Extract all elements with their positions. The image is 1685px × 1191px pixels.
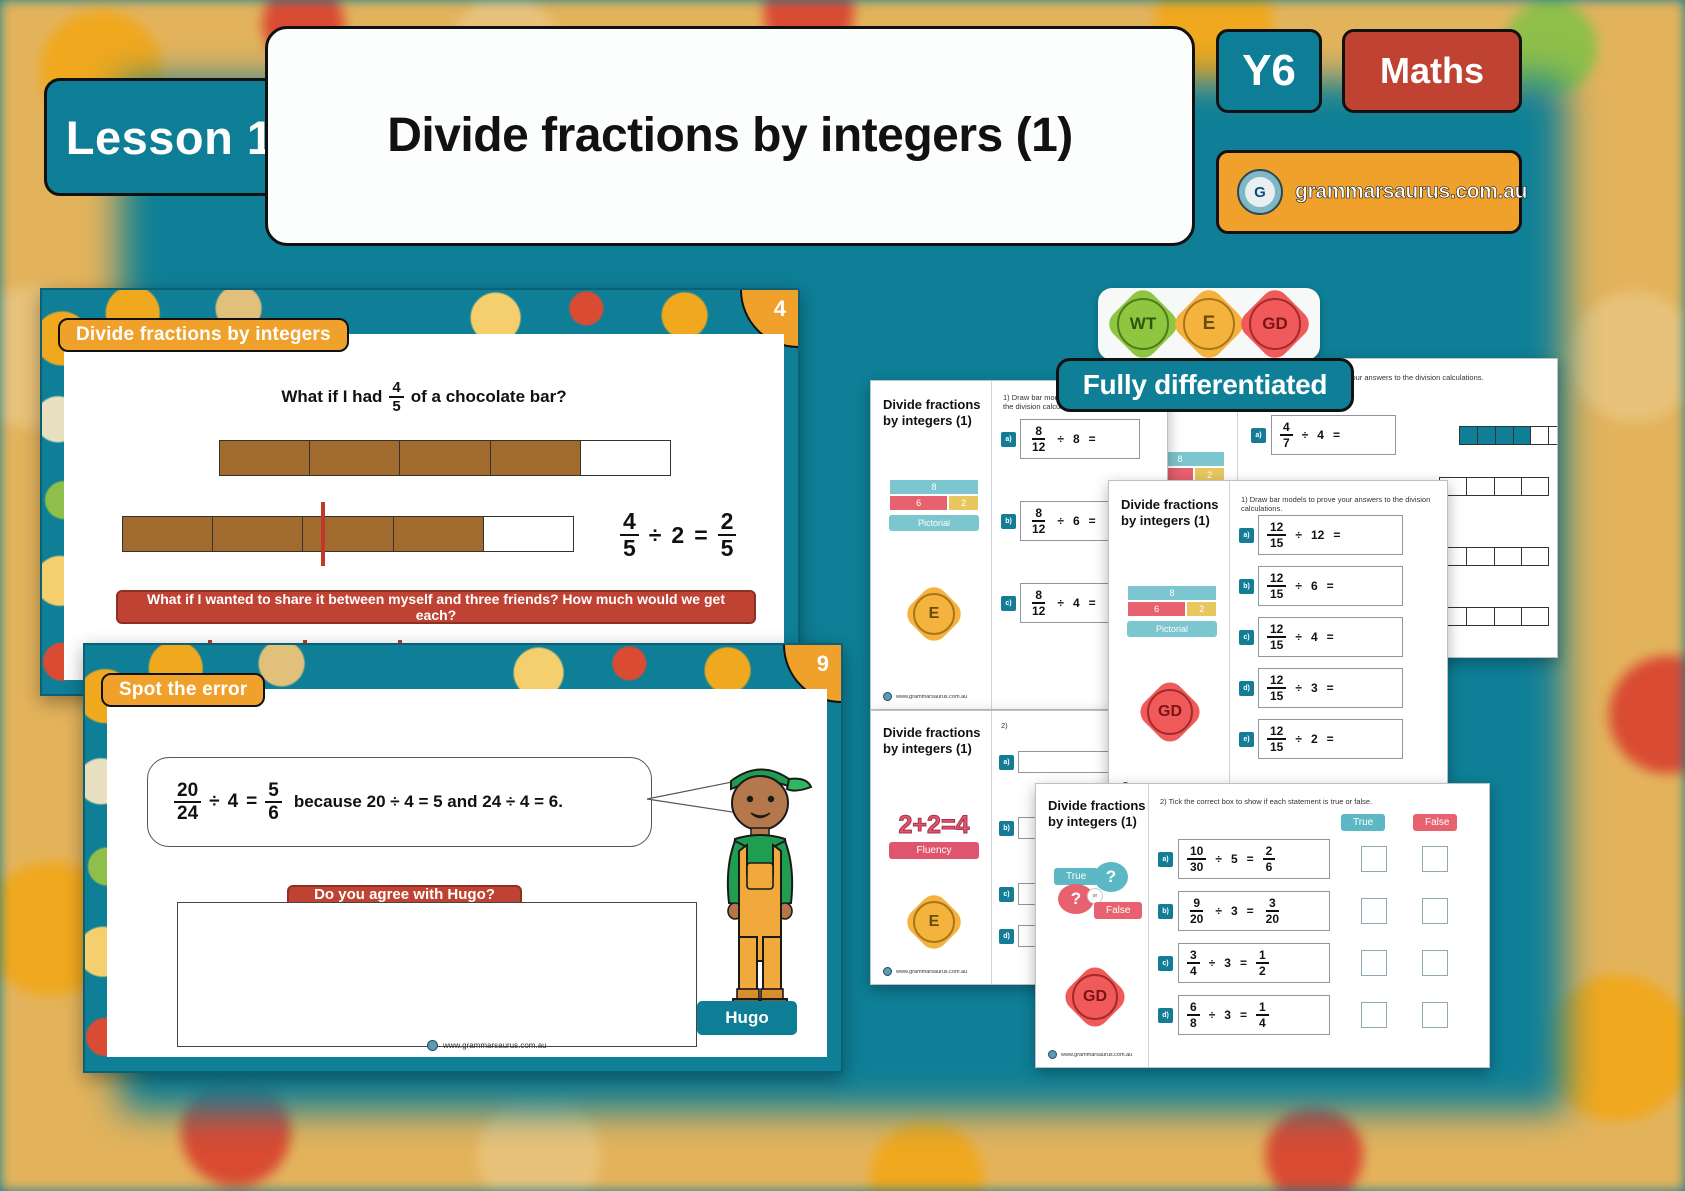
divide-symbol: ÷ bbox=[1057, 596, 1064, 610]
worksheet-footer: www.grammarsaurus.com.au bbox=[883, 692, 967, 701]
equals-symbol: = bbox=[1327, 579, 1334, 593]
item-tag: c) bbox=[1001, 596, 1016, 611]
bar-cell bbox=[1460, 427, 1478, 444]
item-divisor: 8 bbox=[1073, 432, 1080, 446]
true-column-header: True bbox=[1341, 814, 1385, 831]
item-divisor: 2 bbox=[1311, 732, 1318, 746]
equation-1: 4 5 ÷ 2 = 2 5 bbox=[620, 510, 736, 560]
item-fraction: 8 12 bbox=[1029, 425, 1048, 453]
hugo-character-illustration bbox=[705, 751, 815, 1041]
calc-row: a) 8 12 ÷ 8 = bbox=[1001, 419, 1161, 459]
false-checkbox[interactable] bbox=[1422, 1002, 1448, 1028]
gd-badge-icon: GD bbox=[1147, 689, 1193, 735]
answer-writing-box[interactable] bbox=[177, 902, 697, 1047]
true-checkbox[interactable] bbox=[1361, 1002, 1387, 1028]
equation-1-divisor: 2 bbox=[671, 522, 684, 549]
bar-cell bbox=[394, 517, 484, 551]
item-tag: a) bbox=[1251, 428, 1266, 443]
divide-symbol: ÷ bbox=[1295, 528, 1302, 542]
true-checkbox[interactable] bbox=[1361, 846, 1387, 872]
divide-symbol: ÷ bbox=[1295, 579, 1302, 593]
equals-symbol: = bbox=[1327, 681, 1334, 695]
bar-cell bbox=[1522, 478, 1548, 495]
calculation-box[interactable]: 12 15 ÷ 12 = bbox=[1258, 515, 1403, 555]
item-fraction: 6 8 bbox=[1187, 1001, 1200, 1029]
brand-badge[interactable]: G grammarsaurus.com.au bbox=[1216, 150, 1522, 234]
truefalse-list: a) 10 30 ÷ 5 = 2 6 b) 9 bbox=[1158, 839, 1448, 1035]
bar-cell bbox=[491, 441, 581, 475]
item-divisor: 4 bbox=[1073, 596, 1080, 610]
item-divisor: 12 bbox=[1311, 528, 1324, 542]
calc-row: e) 12 15 ÷ 2 = bbox=[1239, 719, 1403, 759]
bar-cell bbox=[1522, 608, 1548, 625]
bar-cell bbox=[1495, 478, 1522, 495]
item-divisor: 4 bbox=[1317, 428, 1324, 442]
worksheet-column-divider bbox=[991, 381, 992, 709]
item-tag: b) bbox=[1001, 514, 1016, 529]
divide-symbol: ÷ bbox=[1295, 732, 1302, 746]
bar-model-2 bbox=[122, 516, 574, 552]
mini-bar-left: 6 bbox=[1127, 601, 1186, 617]
slide-teaching[interactable]: 4 Divide fractions by integers What if I… bbox=[40, 288, 800, 696]
bar-cell bbox=[213, 517, 303, 551]
divide-symbol: ÷ bbox=[1215, 904, 1222, 918]
item-tag: c) bbox=[1158, 956, 1173, 971]
bar-cell bbox=[484, 517, 573, 551]
page-title: Divide fractions by integers (1) bbox=[387, 110, 1073, 163]
bar-cell bbox=[1496, 427, 1514, 444]
slide-footer: www.grammarsaurus.com.au bbox=[427, 1040, 547, 1051]
item-fraction: 9 20 bbox=[1187, 897, 1206, 925]
bar-cell bbox=[1478, 427, 1496, 444]
calculation-box[interactable]: 12 15 ÷ 4 = bbox=[1258, 617, 1403, 657]
grammarsaurus-logo-icon bbox=[883, 967, 892, 976]
divide-symbol: ÷ bbox=[1057, 514, 1064, 528]
item-fraction: 12 15 bbox=[1267, 572, 1286, 600]
item-fraction: 8 12 bbox=[1029, 589, 1048, 617]
slide-section-title: Divide fractions by integers bbox=[58, 318, 349, 352]
pictorial-mini-bar: 8 6 2 Pictorial bbox=[1127, 585, 1217, 637]
grammarsaurus-logo-icon bbox=[1048, 1050, 1057, 1059]
answer-bar-model[interactable] bbox=[1459, 426, 1558, 445]
equals-symbol: = bbox=[694, 522, 707, 549]
item-fraction: 4 7 bbox=[1280, 421, 1293, 449]
bar-cell bbox=[1495, 548, 1522, 565]
item-tag: b) bbox=[999, 821, 1014, 836]
fluency-graphic: 2+2=4 Fluency bbox=[889, 811, 979, 859]
true-checkbox[interactable] bbox=[1361, 950, 1387, 976]
bar-cell bbox=[581, 441, 670, 475]
prompt-fraction: 4 5 bbox=[389, 380, 403, 414]
hugo-svg bbox=[705, 751, 815, 1041]
equation-1-result: 2 5 bbox=[718, 510, 737, 560]
error-statement: 20 24 ÷ 4 = 5 6 because 20 ÷ 4 = 5 and 2… bbox=[174, 781, 563, 823]
grammarsaurus-logo-icon bbox=[883, 692, 892, 701]
fluency-sum-label: 2+2=4 bbox=[889, 811, 979, 840]
item-tag: b) bbox=[1239, 579, 1254, 594]
equals-symbol: = bbox=[1089, 514, 1096, 528]
wt-badge-icon: WT bbox=[1117, 298, 1169, 350]
item-tag: d) bbox=[1158, 1008, 1173, 1023]
teaching-red-banner: What if I wanted to share it between mys… bbox=[116, 590, 756, 624]
calc-row: a) 4 7 ÷ 4 = bbox=[1251, 415, 1558, 455]
bar-model-2-group bbox=[122, 516, 574, 552]
equals-symbol: = bbox=[1247, 904, 1254, 918]
item-tag: c) bbox=[999, 887, 1014, 902]
equals-symbol: = bbox=[1089, 432, 1096, 446]
worksheet-gd-pictorial[interactable]: Divide fractions by integers (1) 8 6 2 P… bbox=[1108, 480, 1448, 800]
worksheet-question-2: 2) bbox=[1001, 721, 1008, 730]
gd-badge-icon: GD bbox=[1249, 298, 1301, 350]
false-checkbox[interactable] bbox=[1422, 898, 1448, 924]
equals-symbol: = bbox=[1333, 428, 1340, 442]
worksheet-column-divider bbox=[991, 711, 992, 984]
equation-1-fraction: 4 5 bbox=[620, 510, 639, 560]
worksheet-title: Divide fractions by integers (1) bbox=[1048, 798, 1146, 831]
true-chip-icon: True bbox=[1054, 868, 1098, 885]
brand-url-label: grammarsaurus.com.au bbox=[1295, 180, 1527, 204]
mini-bar-bottom: 6 2 bbox=[889, 495, 979, 511]
prompt-after: of a chocolate bar? bbox=[411, 387, 567, 407]
statement-box: 9 20 ÷ 3 = 3 20 bbox=[1178, 891, 1330, 931]
item-tag: d) bbox=[999, 929, 1014, 944]
worksheet-footer: www.grammarsaurus.com.au bbox=[883, 967, 967, 976]
worksheet-footer: www.grammarsaurus.com.au bbox=[1048, 1050, 1132, 1059]
equals-symbol: = bbox=[1247, 852, 1254, 866]
false-chip-icon: False bbox=[1094, 902, 1142, 919]
equals-symbol: = bbox=[1333, 528, 1340, 542]
equals-symbol: = bbox=[1327, 732, 1334, 746]
false-checkbox[interactable] bbox=[1422, 846, 1448, 872]
bar-cell bbox=[400, 441, 490, 475]
item-result: 3 20 bbox=[1263, 897, 1282, 925]
gd-badge-icon: GD bbox=[1072, 974, 1118, 1020]
item-fraction: 10 30 bbox=[1187, 845, 1206, 873]
grammarsaurus-logo-icon: G bbox=[1237, 169, 1283, 215]
slide-section-title: Spot the error bbox=[101, 673, 265, 707]
item-fraction: 12 15 bbox=[1267, 725, 1286, 753]
mini-bar-top: 8 bbox=[889, 479, 979, 495]
pictorial-label: Pictorial bbox=[1127, 621, 1217, 637]
prompt-before: What if I had bbox=[281, 387, 382, 407]
divide-symbol: ÷ bbox=[1295, 681, 1302, 695]
table-row: d) 6 8 ÷ 3 = 1 4 bbox=[1158, 995, 1448, 1035]
error-fraction-2: 5 6 bbox=[265, 781, 282, 823]
item-fraction: 8 12 bbox=[1029, 507, 1048, 535]
calc-row: c) 12 15 ÷ 4 = bbox=[1239, 617, 1403, 657]
equals-symbol: = bbox=[246, 791, 257, 813]
slide-content: Spot the error 20 24 ÷ 4 = 5 6 because 2… bbox=[107, 689, 827, 1057]
bar-cell bbox=[1522, 548, 1548, 565]
differentiation-badges-card: WT E GD bbox=[1098, 288, 1320, 360]
truefalse-header: True False bbox=[1341, 814, 1457, 831]
grammarsaurus-logo-icon bbox=[427, 1040, 438, 1051]
item-fraction: 3 4 bbox=[1187, 949, 1200, 977]
statement-box: 6 8 ÷ 3 = 1 4 bbox=[1178, 995, 1330, 1035]
divide-symbol: ÷ bbox=[1209, 956, 1216, 970]
year-badge: Y6 bbox=[1216, 29, 1322, 113]
pictorial-mini-bar: 8 6 2 Pictorial bbox=[889, 479, 979, 531]
slide-content: Divide fractions by integers What if I h… bbox=[64, 334, 784, 680]
divide-symbol: ÷ bbox=[1302, 428, 1309, 442]
item-divisor: 6 bbox=[1311, 579, 1318, 593]
answer-bar-model-empty[interactable] bbox=[1439, 477, 1549, 496]
item-divisor: 6 bbox=[1073, 514, 1080, 528]
worksheet-title: Divide fractions by integers (1) bbox=[883, 397, 981, 430]
item-divisor: 4 bbox=[1311, 630, 1318, 644]
table-row: a) 10 30 ÷ 5 = 2 6 bbox=[1158, 839, 1448, 879]
calc-row: b) 12 15 ÷ 6 = bbox=[1239, 566, 1403, 606]
bar-cell bbox=[1495, 608, 1522, 625]
mini-bar-right: 2 bbox=[948, 495, 979, 511]
logo-letter: G bbox=[1245, 177, 1275, 207]
table-row: b) 9 20 ÷ 3 = 3 20 bbox=[1158, 891, 1448, 931]
bar-cell bbox=[1514, 427, 1532, 444]
worksheet-column-divider bbox=[1229, 481, 1230, 799]
fully-differentiated-banner: Fully differentiated bbox=[1056, 358, 1354, 412]
e-badge-icon: E bbox=[913, 901, 955, 943]
item-result: 2 6 bbox=[1263, 845, 1276, 873]
divide-symbol: ÷ bbox=[209, 791, 219, 813]
item-divisor: 3 bbox=[1311, 681, 1318, 695]
bar-cell bbox=[1467, 478, 1494, 495]
calc-row: a) 12 15 ÷ 12 = bbox=[1239, 515, 1403, 555]
statement-box: 10 30 ÷ 5 = 2 6 bbox=[1178, 839, 1330, 879]
mini-bar-left: 6 bbox=[889, 495, 948, 511]
item-result: 1 4 bbox=[1256, 1001, 1269, 1029]
item-tag: d) bbox=[1239, 681, 1254, 696]
item-tag: e) bbox=[1239, 732, 1254, 747]
mini-bar-right: 2 bbox=[1186, 601, 1217, 617]
hugo-speech-bubble: 20 24 ÷ 4 = 5 6 because 20 ÷ 4 = 5 and 2… bbox=[147, 757, 652, 847]
cut-line bbox=[321, 502, 325, 566]
calculation-box[interactable]: 8 12 ÷ 8 = bbox=[1020, 419, 1140, 459]
item-result: 1 2 bbox=[1256, 949, 1269, 977]
error-reason: because 20 ÷ 4 = 5 and 24 ÷ 4 = 6. bbox=[294, 792, 563, 812]
item-tag: a) bbox=[999, 755, 1014, 770]
answer-bar-model-empty[interactable] bbox=[1439, 607, 1549, 626]
item-tag: c) bbox=[1239, 630, 1254, 645]
item-divisor: 3 bbox=[1224, 956, 1231, 970]
item-divisor: 3 bbox=[1231, 904, 1238, 918]
page-title-card: Divide fractions by integers (1) bbox=[265, 26, 1195, 246]
divide-symbol: ÷ bbox=[1209, 1008, 1216, 1022]
calculation-box[interactable]: 12 15 ÷ 2 = bbox=[1258, 719, 1403, 759]
item-tag: a) bbox=[1239, 528, 1254, 543]
bar-model-1 bbox=[219, 440, 671, 476]
statement-box: 3 4 ÷ 3 = 1 2 bbox=[1178, 943, 1330, 983]
error-fraction-1: 20 24 bbox=[174, 781, 201, 823]
worksheet-title: Divide fractions by integers (1) bbox=[1121, 497, 1219, 530]
bar-cell bbox=[1467, 548, 1494, 565]
false-checkbox[interactable] bbox=[1422, 950, 1448, 976]
error-divisor: 4 bbox=[228, 791, 239, 813]
divide-symbol: ÷ bbox=[649, 522, 662, 549]
worksheet-title: Divide fractions by integers (1) bbox=[883, 725, 981, 758]
slide-spot-the-error[interactable]: 9 Spot the error 20 24 ÷ 4 = 5 6 because… bbox=[83, 643, 843, 1073]
fluency-label: Fluency bbox=[889, 842, 979, 859]
mini-bar-top: 8 bbox=[1127, 585, 1217, 601]
bar-cell bbox=[1467, 608, 1494, 625]
bar-cell bbox=[303, 517, 393, 551]
item-fraction: 12 15 bbox=[1267, 521, 1286, 549]
equals-symbol: = bbox=[1240, 956, 1247, 970]
table-row: c) 3 4 ÷ 3 = 1 2 bbox=[1158, 943, 1448, 983]
subject-badge: Maths bbox=[1342, 29, 1522, 113]
worksheet-gd-truefalse[interactable]: Divide fractions by integers (1) True ? … bbox=[1035, 783, 1490, 1068]
divide-symbol: ÷ bbox=[1215, 852, 1222, 866]
bar-cell bbox=[310, 441, 400, 475]
bar-cell bbox=[123, 517, 213, 551]
false-column-header: False bbox=[1413, 814, 1457, 831]
bar-cell bbox=[1549, 427, 1558, 444]
calc-list: a) 12 15 ÷ 12 = b) 12 15 ÷ 6 = bbox=[1239, 515, 1403, 759]
hugo-name-chip: Hugo bbox=[697, 1001, 797, 1035]
divide-symbol: ÷ bbox=[1295, 630, 1302, 644]
worksheet-column-divider bbox=[1148, 784, 1149, 1067]
bar-cell bbox=[220, 441, 310, 475]
subject-label: Maths bbox=[1380, 50, 1484, 92]
equals-symbol: = bbox=[1327, 630, 1334, 644]
item-fraction: 12 15 bbox=[1267, 623, 1286, 651]
equals-symbol: = bbox=[1089, 596, 1096, 610]
question-bubble-teal-icon: ? bbox=[1094, 862, 1128, 892]
item-divisor: 3 bbox=[1224, 1008, 1231, 1022]
worksheet-question-2: 2) Tick the correct box to show if each … bbox=[1160, 797, 1372, 806]
calculation-box[interactable]: 12 15 ÷ 6 = bbox=[1258, 566, 1403, 606]
true-checkbox[interactable] bbox=[1361, 898, 1387, 924]
divide-symbol: ÷ bbox=[1057, 432, 1064, 446]
teaching-prompt: What if I had 4 5 of a chocolate bar? bbox=[64, 380, 784, 414]
worksheet-question-1: 1) Draw bar models to prove your answers… bbox=[1241, 495, 1447, 513]
item-tag: b) bbox=[1158, 904, 1173, 919]
true-false-graphic: True ? ? or False bbox=[1054, 862, 1138, 922]
mini-bar-bottom: 6 2 bbox=[1127, 601, 1217, 617]
calculation-box[interactable]: 12 15 ÷ 3 = bbox=[1258, 668, 1403, 708]
bar-cell bbox=[1531, 427, 1549, 444]
item-tag: a) bbox=[1158, 852, 1173, 867]
e-badge-icon: E bbox=[913, 593, 955, 635]
item-fraction: 12 15 bbox=[1267, 674, 1286, 702]
e-badge-icon: E bbox=[1183, 298, 1235, 350]
pictorial-label: Pictorial bbox=[889, 515, 979, 531]
answer-bar-model-empty[interactable] bbox=[1439, 547, 1549, 566]
calc-row: d) 12 15 ÷ 3 = bbox=[1239, 668, 1403, 708]
calculation-box[interactable]: 4 7 ÷ 4 = bbox=[1271, 415, 1396, 455]
item-divisor: 5 bbox=[1231, 852, 1238, 866]
item-tag: a) bbox=[1001, 432, 1016, 447]
year-label: Y6 bbox=[1242, 46, 1296, 96]
equals-symbol: = bbox=[1240, 1008, 1247, 1022]
